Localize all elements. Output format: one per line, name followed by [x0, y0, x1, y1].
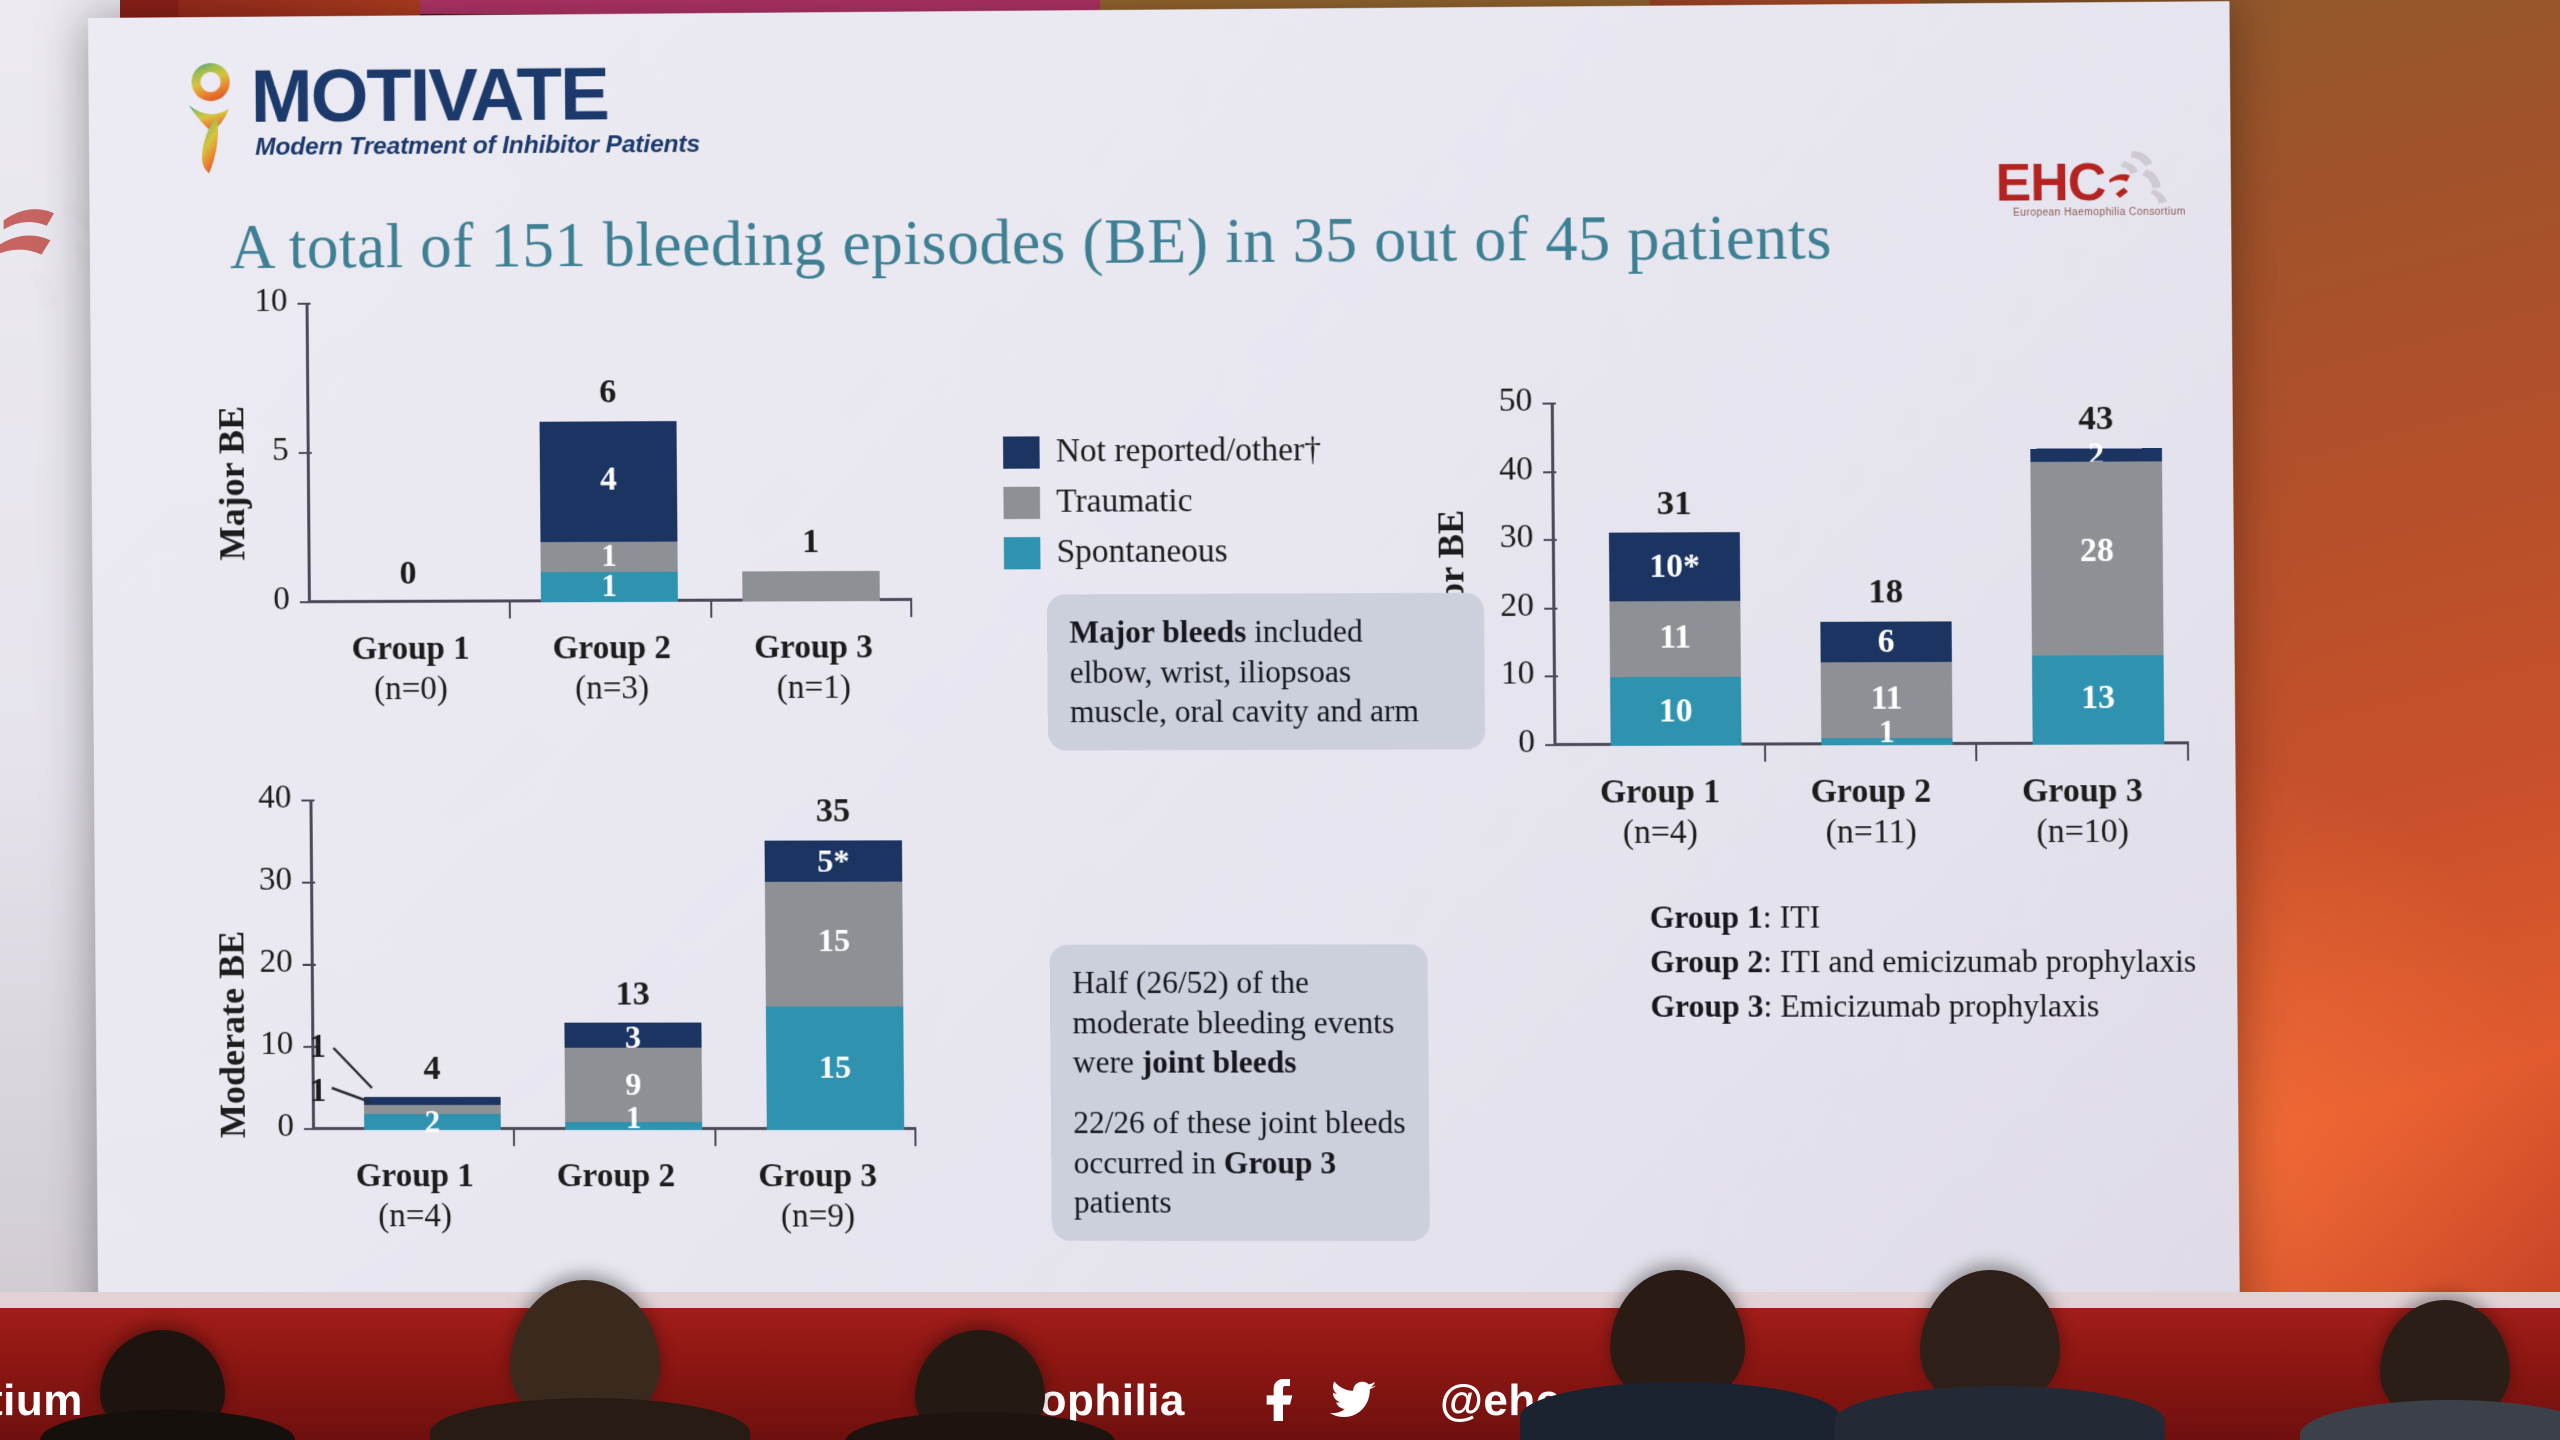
major-be-category-label: Group 1 (n=0)	[310, 629, 512, 710]
motivate-wordmark: MOTIVATE	[250, 57, 699, 131]
major-be-seg-label: 1	[541, 568, 678, 605]
group-key-row: Group 1: ITI	[1650, 895, 2196, 940]
cat-group: Group 1	[314, 1156, 515, 1196]
cat-group: Group 2	[1764, 771, 1978, 812]
minor-be-category-label: Group 2 (n=11)	[1764, 771, 1978, 853]
minor-be-seg-not-reported: 2	[2030, 448, 2162, 462]
major-be-ytick	[298, 303, 311, 305]
major-be-total: 0	[348, 554, 469, 593]
group-key-label: Group 2	[1650, 944, 1763, 980]
moderate-be-total: 13	[572, 975, 693, 1013]
cat-n: (n=3)	[511, 668, 713, 709]
cat-group: Group 3	[712, 627, 914, 668]
moderate-be-category-label: Group 3 (n=9)	[717, 1156, 920, 1237]
chart-major-be: Major BE 10 5 0 0 4 1	[195, 281, 933, 706]
major-be-ytick	[300, 601, 313, 603]
moderate-be-ytick	[304, 1128, 317, 1130]
twitter-icon	[1325, 1372, 1381, 1428]
chart-moderate-be: Moderate BE 40 30 20 10 0 2	[199, 776, 938, 1279]
social-icons	[1255, 1370, 1381, 1428]
moderate-be-ytick	[303, 964, 316, 966]
moderate-be-seg-label: 1	[565, 1100, 702, 1136]
table-row: 2 28 13	[2030, 448, 2164, 745]
callout-bold-term: joint bleeds	[1142, 1045, 1297, 1080]
cat-n: (n=9)	[717, 1197, 919, 1238]
minor-be-xtick	[1975, 745, 1977, 761]
legend-item-spontaneous: Spontaneous	[1004, 533, 1322, 572]
moderate-be-seg-label: 5*	[765, 842, 903, 879]
minor-be-y-axis	[1551, 403, 1557, 747]
major-be-total: 1	[750, 523, 872, 562]
moderate-be-ytick-label: 20	[230, 944, 292, 981]
callout-text: muscle, oral cavity and arm	[1070, 693, 1419, 729]
minor-be-ytick-label: 50	[1469, 382, 1533, 420]
cat-n: (n=0)	[310, 669, 511, 710]
moderate-be-seg-traumatic: 15	[765, 882, 903, 1006]
major-be-total: 6	[547, 373, 668, 412]
moderate-be-seg-label: 15	[765, 922, 903, 959]
banner-text-left: tium	[0, 1376, 83, 1426]
group-key-desc: : Emicizumab prophylaxis	[1763, 988, 2099, 1024]
major-be-xtick	[910, 601, 912, 617]
major-be-seg-traumatic	[742, 571, 880, 602]
moderate-be-seg-label: 9	[565, 1065, 702, 1102]
major-be-ytick	[299, 452, 312, 454]
motivate-logo: MOTIVATE Modern Treatment of Inhibitor P…	[180, 51, 700, 177]
minor-be-seg-label: 11	[1821, 681, 1953, 719]
stage-banner: tium mophilia @ehc_ ophilia	[0, 1292, 2560, 1440]
banner-divider	[0, 1292, 2560, 1308]
major-be-ytick-label: 0	[230, 581, 290, 618]
callout-text: elbow, wrist, iliopsoas	[1070, 653, 1352, 689]
moderate-be-ytick-label: 30	[230, 862, 292, 899]
cat-n: (n=10)	[1976, 812, 2190, 853]
moderate-be-ytick	[302, 882, 315, 884]
legend-label: Traumatic	[1056, 483, 1193, 521]
legend-label: Spontaneous	[1056, 533, 1227, 571]
legend-swatch-not-reported-icon	[1003, 436, 1040, 468]
minor-be-seg-spontaneous: 1	[1821, 738, 1952, 745]
major-be-ytick-label: 5	[228, 432, 288, 469]
minor-be-seg-label: 6	[1820, 623, 1952, 661]
cat-group: Group 2	[515, 1156, 717, 1196]
table-row	[742, 571, 880, 602]
moderate-be-category-label: Group 1 (n=4)	[314, 1156, 516, 1237]
table-row: 10* 11 10	[1609, 532, 1742, 746]
minor-be-seg-traumatic: 28	[2030, 462, 2163, 656]
major-be-seg-spontaneous: 1	[541, 572, 678, 603]
moderate-be-xtick	[914, 1130, 916, 1146]
page-title: A total of 151 bleeding episodes (BE) in…	[230, 201, 2139, 281]
legend-label: Not reported/other†	[1056, 432, 1321, 471]
minor-be-xtick	[1764, 745, 1766, 761]
minor-be-seg-label: 1	[1821, 714, 1953, 751]
legend-swatch-spontaneous-icon	[1004, 537, 1041, 569]
moderate-be-plot: 40 30 20 10 0 2 4 1 1	[309, 798, 916, 1130]
minor-be-seg-label: 28	[2031, 533, 2163, 571]
moderate-be-seg-spontaneous: 1	[565, 1122, 702, 1130]
cat-group: Group 3	[717, 1156, 919, 1197]
minor-be-seg-label: 10*	[1609, 548, 1740, 586]
chart-legend: Not reported/other† Traumatic Spontaneou…	[1003, 432, 1322, 585]
cat-group: Group 1	[1554, 772, 1767, 813]
major-be-category-label: Group 2 (n=3)	[511, 628, 713, 709]
table-row: 5* 15 15	[765, 840, 905, 1130]
minor-be-ytick	[1543, 471, 1556, 473]
major-be-xtick	[710, 602, 712, 618]
minor-be-plot: 50 40 30 20 10 0 10* 11 10 31	[1551, 399, 2189, 746]
major-be-xtick	[509, 602, 511, 618]
callout-bold-term: Group 3	[1224, 1145, 1337, 1180]
minor-be-seg-not-reported: 10*	[1609, 532, 1740, 601]
moderate-be-ytick	[301, 799, 314, 801]
group-key-desc: : ITI	[1763, 899, 1821, 935]
chart-minor-be: Minor BE 50 40 30 20 10 0 10*	[1418, 377, 2221, 886]
moderate-be-total: 35	[772, 792, 894, 830]
minor-be-ytick-label: 40	[1470, 451, 1534, 489]
major-be-ytick-label: 10	[227, 283, 287, 320]
minor-be-ytick	[1544, 539, 1557, 541]
table-row: 6 11 1	[1820, 621, 1952, 745]
minor-be-seg-label: 10	[1610, 693, 1741, 731]
minor-be-seg-label: 13	[2032, 679, 2164, 717]
group-key-label: Group 3	[1650, 988, 1763, 1023]
motivate-tagline: Modern Treatment of Inhibitor Patients	[255, 131, 700, 162]
minor-be-xtick	[2187, 744, 2189, 760]
legend-item-not-reported: Not reported/other†	[1003, 432, 1321, 471]
moderate-be-xtick	[714, 1130, 716, 1146]
motivate-figure-icon	[180, 59, 243, 178]
cat-group: Group 3	[1975, 771, 2189, 812]
major-be-plot: 10 5 0 0 4 1 1 6	[306, 299, 913, 603]
moderate-be-xtick	[513, 1130, 515, 1146]
minor-be-total: 43	[2034, 399, 2158, 438]
minor-be-seg-traumatic: 11	[1609, 601, 1740, 677]
major-be-category-label: Group 3 (n=1)	[712, 627, 915, 709]
minor-be-seg-spontaneous: 13	[2032, 655, 2164, 745]
cat-n: (n=4)	[315, 1196, 516, 1236]
group-key-desc: : ITI and emicizumab prophylaxis	[1763, 943, 2196, 979]
minor-be-category-label: Group 1 (n=4)	[1554, 772, 1767, 854]
group-key-row: Group 3: Emicizumab prophylaxis	[1650, 984, 2196, 1029]
minor-be-seg-spontaneous: 10	[1610, 677, 1741, 746]
group-definitions: Group 1: ITI Group 2: ITI and emicizumab…	[1650, 895, 2197, 1029]
moderate-be-seg-label: 15	[766, 1048, 904, 1085]
minor-be-total: 18	[1824, 573, 1947, 612]
cat-n: (n=4)	[1554, 813, 1767, 854]
minor-be-ytick	[1545, 744, 1558, 746]
minor-be-ytick-label: 30	[1470, 519, 1534, 557]
moderate-be-leader-lines	[321, 1030, 412, 1120]
moderate-be-seg-not-reported: 3	[564, 1023, 701, 1048]
moderate-be-ytick-label: 10	[231, 1026, 293, 1063]
table-row: 4 1 1	[540, 421, 678, 602]
minor-be-category-label: Group 3 (n=10)	[1975, 771, 2189, 853]
facebook-icon	[1255, 1372, 1311, 1428]
callout-bold-term: Major bleeds	[1069, 614, 1246, 650]
moderate-be-seg-not-reported: 5*	[765, 840, 903, 881]
callout-text: patients	[1074, 1185, 1172, 1220]
cat-group: Group 2	[511, 628, 713, 669]
minor-be-total: 31	[1613, 485, 1736, 524]
projected-slide: MOTIVATE Modern Treatment of Inhibitor P…	[88, 1, 2240, 1371]
moderate-be-ytick-label: 0	[232, 1108, 294, 1145]
moderate-be-category-label: Group 2	[515, 1156, 717, 1196]
cat-group: Group 1	[310, 629, 511, 670]
group-key-row: Group 2: ITI and emicizumab prophylaxis	[1650, 939, 2196, 984]
legend-swatch-traumatic-icon	[1003, 486, 1040, 518]
minor-be-ytick	[1544, 607, 1557, 609]
callout-text: included	[1246, 613, 1363, 649]
moderate-be-seg-spontaneous: 15	[766, 1006, 904, 1130]
moderate-be-ytick-label: 40	[229, 780, 291, 817]
minor-be-seg-not-reported: 6	[1820, 621, 1952, 663]
cat-n: (n=11)	[1765, 812, 1979, 853]
legend-item-traumatic: Traumatic	[1003, 482, 1321, 521]
cat-n: (n=1)	[713, 668, 915, 709]
table-row: 3 9 1	[564, 1023, 702, 1130]
minor-be-ytick	[1545, 676, 1558, 678]
minor-be-seg-label: 11	[1610, 619, 1741, 657]
major-be-seg-label: 4	[540, 461, 677, 499]
minor-be-ytick	[1543, 403, 1556, 405]
callout-major-bleeds: Major bleeds included elbow, wrist, ilio…	[1047, 593, 1485, 751]
major-be-seg-not-reported: 4	[540, 421, 678, 542]
group-key-label: Group 1	[1650, 899, 1763, 935]
callout-joint-bleeds: Half (26/52) of the moderate bleeding ev…	[1050, 944, 1430, 1241]
